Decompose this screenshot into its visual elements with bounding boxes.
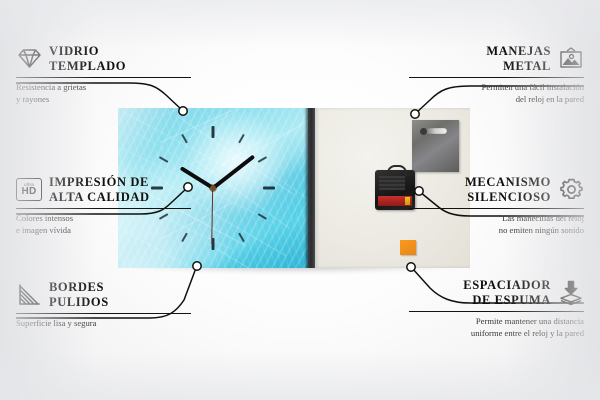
feature-title: ESPACIADOR DE ESPUMA bbox=[463, 278, 551, 308]
feature-title: IMPRESIÓN DE ALTA CALIDAD bbox=[49, 175, 150, 205]
feature-title-line2: DE ESPUMA bbox=[472, 293, 551, 307]
gear-icon bbox=[558, 177, 584, 203]
feature-title-line1: ESPACIADOR bbox=[463, 278, 551, 292]
feature-description: Permiten una fácil instalación del reloj… bbox=[409, 82, 584, 105]
feature-desc-line1: Permite mantener una distancia bbox=[476, 316, 584, 326]
feature-title-line2: METAL bbox=[503, 59, 551, 73]
panel-separator bbox=[308, 108, 315, 268]
feature-desc-line1: Resistencia a grietas bbox=[16, 82, 86, 92]
feature-title: MECANISMO SILENCIOSO bbox=[465, 175, 551, 205]
feature-desc-line2: del reloj en la pared bbox=[516, 94, 584, 104]
feature-title: BORDES PULIDOS bbox=[49, 280, 109, 310]
infographic-canvas: VIDRIO TEMPLADO Resistencia a grietas y … bbox=[0, 0, 600, 400]
feature-header: MECANISMO SILENCIOSO bbox=[409, 175, 584, 205]
movement-label bbox=[379, 176, 405, 190]
clock-tick bbox=[258, 213, 268, 220]
feature-description: Las manecillas del reloj no emiten ningú… bbox=[409, 213, 584, 236]
feature-desc-line1: Las manecillas del reloj bbox=[502, 213, 584, 223]
clock-tick bbox=[212, 126, 215, 138]
feature-title: MANEJAS METAL bbox=[486, 44, 551, 74]
feature-title-line1: MANEJAS bbox=[486, 44, 551, 58]
feature-description: Colores intensos e imagen vívida bbox=[16, 213, 191, 236]
feature-header: MANEJAS METAL bbox=[409, 44, 584, 74]
feature-divider bbox=[16, 208, 191, 210]
feature-title-line1: MECANISMO bbox=[465, 175, 551, 189]
clock-tick bbox=[159, 156, 169, 163]
feature-title-line2: SILENCIOSO bbox=[467, 190, 551, 204]
picture-frame-icon bbox=[558, 46, 584, 72]
diamond-icon bbox=[16, 46, 42, 72]
feature-title: VIDRIO TEMPLADO bbox=[49, 44, 126, 74]
feature-desc-line2: uniforme entre el reloj y la pared bbox=[471, 328, 584, 338]
feature-title-line1: IMPRESIÓN DE bbox=[49, 175, 149, 189]
feature-desc-line2: e imagen vívida bbox=[16, 225, 71, 235]
clock-tick bbox=[258, 156, 268, 163]
feature-description: Permite mantener una distancia uniforme … bbox=[409, 316, 584, 339]
feature-manejas-metal: MANEJAS METAL Permiten una fácil instala… bbox=[409, 44, 584, 105]
feature-header: VIDRIO TEMPLADO bbox=[16, 44, 191, 74]
feature-title-line1: BORDES bbox=[49, 280, 104, 294]
feature-divider bbox=[16, 313, 191, 315]
feature-divider bbox=[16, 77, 191, 79]
feature-header: ESPACIADOR DE ESPUMA bbox=[409, 278, 584, 308]
feature-divider bbox=[409, 208, 584, 210]
movement-hook bbox=[387, 165, 407, 176]
feature-title-line2: TEMPLADO bbox=[49, 59, 126, 73]
feature-title-line2: ALTA CALIDAD bbox=[49, 190, 150, 204]
feature-desc-line1: Colores intensos bbox=[16, 213, 73, 223]
feature-desc-line1: Permiten una fácil instalación bbox=[482, 82, 584, 92]
clock-minute-hand bbox=[212, 155, 255, 190]
feature-espaciador-de-espuma: ESPACIADOR DE ESPUMA Permite mantener un… bbox=[409, 278, 584, 339]
feature-title-line1: VIDRIO bbox=[49, 44, 99, 58]
feature-desc-line2: no emiten ningún sonido bbox=[499, 225, 584, 235]
feature-header: ultra HD IMPRESIÓN DE ALTA CALIDAD bbox=[16, 175, 191, 205]
battery bbox=[378, 196, 412, 206]
clock-tick bbox=[263, 187, 275, 190]
clock-tick bbox=[181, 134, 188, 144]
feature-divider bbox=[409, 311, 584, 313]
feature-title-line2: PULIDOS bbox=[49, 295, 109, 309]
feature-vidrio-templado: VIDRIO TEMPLADO Resistencia a grietas y … bbox=[16, 44, 191, 105]
clock-tick bbox=[238, 134, 245, 144]
feature-desc-line2: y rayones bbox=[16, 94, 49, 104]
feature-bordes-pulidos: BORDES PULIDOS Superficie lisa y segura bbox=[16, 280, 191, 330]
feature-desc-line1: Superficie lisa y segura bbox=[16, 318, 96, 328]
hd-badge-big: HD bbox=[21, 187, 36, 197]
feature-mecanismo-silencioso: MECANISMO SILENCIOSO Las manecillas del … bbox=[409, 175, 584, 236]
clock-center-pin bbox=[210, 185, 216, 191]
foam-spacer-icon bbox=[558, 280, 584, 306]
feature-impresion-alta-calidad: ultra HD IMPRESIÓN DE ALTA CALIDAD Color… bbox=[16, 175, 191, 236]
clock-tick bbox=[238, 233, 245, 243]
feature-divider bbox=[409, 77, 584, 79]
foam-spacer bbox=[400, 240, 416, 255]
clock-second-hand bbox=[211, 188, 213, 244]
feature-description: Resistencia a grietas y rayones bbox=[16, 82, 191, 105]
feature-description: Superficie lisa y segura bbox=[16, 318, 191, 330]
polished-edge-icon bbox=[16, 282, 42, 308]
metal-hanger-plate bbox=[412, 120, 459, 172]
feature-header: BORDES PULIDOS bbox=[16, 280, 191, 310]
ultra-hd-icon: ultra HD bbox=[16, 177, 42, 203]
